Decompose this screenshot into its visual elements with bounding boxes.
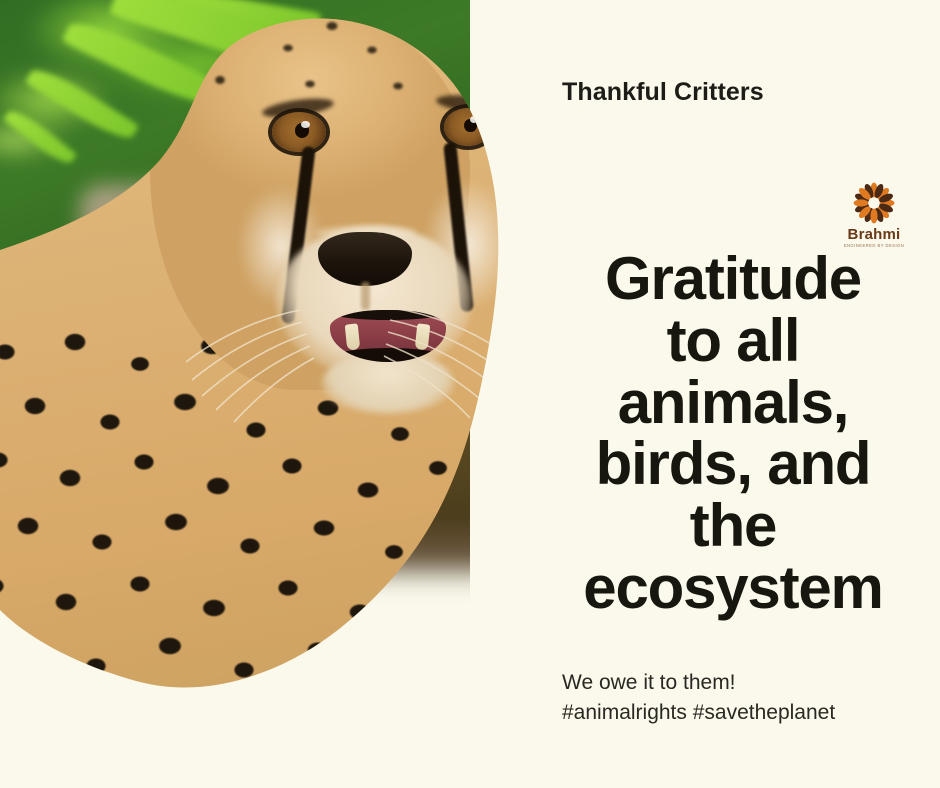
- flower-sunburst-icon: [853, 182, 895, 224]
- right-eye: [444, 108, 492, 146]
- upper-lip: [330, 310, 446, 320]
- headline: Gratitude to all animals, birds, and the…: [548, 248, 918, 619]
- poster-canvas: Thankful Critters: [0, 0, 940, 788]
- open-mouth: [330, 310, 446, 362]
- headline-line: to all: [548, 310, 918, 372]
- content-column: Thankful Critters: [520, 0, 940, 788]
- right-eye-glint: [470, 116, 478, 123]
- eyebrow-title: Thankful Critters: [562, 78, 764, 107]
- headline-line: birds, and: [548, 433, 918, 495]
- headline-line: ecosystem: [548, 557, 918, 619]
- philtrum: [361, 282, 370, 310]
- right-fang: [415, 323, 431, 350]
- left-fang: [345, 323, 361, 350]
- headline-line: animals,: [548, 372, 918, 434]
- lower-lip: [330, 348, 446, 362]
- left-eye-glint: [301, 121, 310, 128]
- subtext-block: We owe it to them! #animalrights #saveth…: [562, 668, 835, 728]
- brand-name: Brahmi: [826, 227, 922, 242]
- headline-line: Gratitude: [548, 248, 918, 310]
- left-eye: [272, 112, 326, 152]
- subtext-line: We owe it to them!: [562, 668, 835, 698]
- hashtags-line: #animalrights #savetheplanet: [562, 698, 835, 728]
- headline-line: the: [548, 495, 918, 557]
- brand-logo: Brahmi ENGINEERED BY DESIGN: [826, 182, 922, 248]
